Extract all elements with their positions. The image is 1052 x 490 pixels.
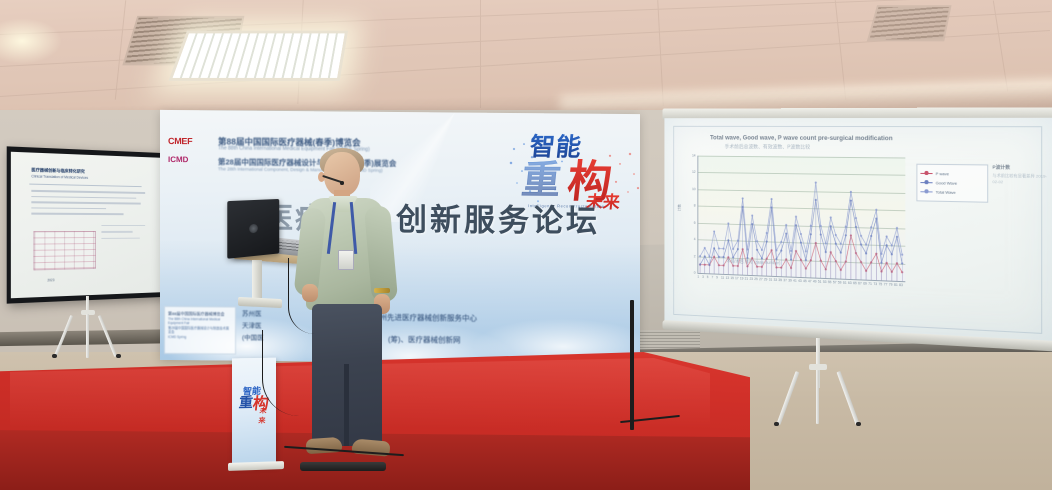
chart-xtick-label: 9 (716, 276, 718, 280)
power-strip (300, 462, 386, 471)
chart-xtick-label: 41 (793, 279, 797, 283)
chart-xtick-label: 21 (745, 277, 748, 281)
left-slide-table (33, 231, 95, 270)
right-screen-surface: Total wave, Good wave, P wave count pre-… (664, 118, 1052, 343)
legend-label-2: Total Wave (936, 189, 956, 194)
chart-xtick-label: 37 (783, 278, 787, 282)
right-projection-screen: Total wave, Good wave, P wave count pre-… (663, 107, 1052, 372)
chart-xtick-label: 33 (774, 278, 778, 282)
chart-xtick-label: 61 (843, 281, 847, 285)
sponsor-card-title-en: The 88th China International Medical Equ… (165, 317, 235, 326)
chart-xtick-label: 15 (730, 276, 733, 280)
chart-xtick-label: 79 (889, 283, 893, 287)
sponsor-card-title: 第88届中国国际医疗器械博览会 (165, 307, 235, 318)
chart-legend: P wave Good Wave Total Wave (916, 164, 988, 203)
annotation-title: P波计数 (992, 164, 1051, 171)
chart-xtick-label: 59 (838, 281, 842, 285)
chart-title: Total wave, Good wave, P wave count pre-… (710, 135, 893, 143)
sponsor-card-sub-en: ICMD Spring (165, 335, 235, 340)
chart-xtick-label: 53 (823, 280, 827, 284)
chart-xtick-label: 13 (726, 276, 729, 280)
ceiling-light-panel (168, 31, 348, 81)
forum-title: 创新服务论坛 (396, 194, 600, 241)
chart-xtick-label: 39 (788, 278, 792, 282)
name-badge (338, 250, 354, 270)
slide-annotation: P波计数 与术前比较有显著差异 2019-02-02 (992, 164, 1051, 186)
chart-ytick-label: 4 (687, 237, 696, 241)
cmef-logo-block: CMEF ICMD (168, 136, 214, 164)
lectern-post (252, 260, 262, 302)
chart-xtick-label: 47 (808, 279, 812, 283)
sponsor-col-item-0: 苏州医 (242, 309, 262, 321)
left-slide-sidenotes (101, 225, 145, 244)
cable-right-vertical (630, 300, 634, 430)
chart-xtick-label: 73 (873, 282, 877, 286)
chart-xtick-label: 45 (803, 279, 807, 283)
chart-xtick-label: 51 (818, 280, 822, 284)
left-slide-subtitle: Clinical Translation of Medical Devices (31, 174, 88, 180)
right-screen-tripod (760, 352, 880, 428)
annotation-body: 与术前比较有显著差异 2019-02-02 (992, 173, 1051, 186)
chart-ytick-label: 2 (687, 254, 696, 258)
sponsor-card: 第88届中国国际医疗器械博览会 The 88th China Internati… (164, 306, 236, 355)
rollup-text-weilai: 未来 (258, 406, 272, 426)
left-slide-rule (29, 184, 141, 188)
chart-xtick-label: 69 (863, 282, 867, 286)
chart-ytick-label: 12 (687, 170, 696, 174)
chart-xtick-label: 65 (853, 281, 857, 285)
chart-xtick-label: 3 (702, 275, 704, 279)
chart-xtick-label: 31 (769, 278, 773, 282)
chart-series-layer (698, 156, 905, 158)
speaker-person (300, 152, 420, 462)
chart-ytick-label: 6 (687, 220, 696, 224)
legend-swatch-1 (920, 182, 932, 184)
chart-xtick-label: 49 (813, 279, 817, 283)
chart-xtick-label: 27 (759, 277, 763, 281)
legend-item-2: Total Wave (920, 187, 984, 197)
chart-xtick-label: 35 (778, 278, 782, 282)
chart-ylabel: 计数 (678, 204, 682, 211)
chart-subtitle: 手术前后总波数、有效波数、P波数比较 (725, 143, 811, 150)
speaker-left-shoe (306, 437, 343, 454)
chart-ytick-label: 0 (687, 271, 696, 275)
laptop-lid (227, 199, 279, 259)
chart-xtick-label: 23 (749, 277, 753, 281)
cmef-logo: CMEF (168, 136, 214, 146)
left-screen-tripod (44, 296, 134, 358)
chart-xtick-label: 7 (711, 275, 713, 279)
chart-xtick-label: 5 (707, 275, 709, 279)
cable-from-lectern (288, 258, 315, 334)
air-vent-icon-2 (867, 5, 952, 41)
chart-xtick-label: 75 (879, 282, 883, 286)
chart-xtick-label: 57 (833, 280, 837, 284)
chart-xtick-label: 55 (828, 280, 832, 284)
sponsor-col-item-2: (中国医 (242, 333, 264, 345)
chart-ytick-label: 14 (687, 154, 696, 158)
icmd-logo: ICMD (168, 155, 214, 164)
laptop-logo-icon (249, 224, 258, 234)
trouser-leg-gap (344, 364, 349, 446)
chart-ytick-label: 8 (687, 204, 696, 208)
chart-xtick-label: 63 (848, 281, 852, 285)
legend-label-0: P wave (936, 171, 949, 176)
chart-xtick-label: 83 (899, 283, 903, 287)
chart-xtick-label: 43 (798, 279, 802, 283)
chart-xtick-label: 19 (740, 277, 743, 281)
wristwatch-icon (374, 288, 390, 293)
chart-xtick-label: 25 (754, 277, 758, 281)
sponsor-col-item-1: 天津医 (242, 321, 262, 333)
left-projection-screen: 医疗器械创新与临床转化研究 Clinical Translation of Me… (7, 146, 170, 303)
conference-photo-scene: 医疗器械创新与临床转化研究 Clinical Translation of Me… (0, 0, 1052, 490)
chart-xtick-label: 11 (721, 276, 724, 280)
left-slide-body (31, 190, 145, 219)
left-slide-footer: 2023 (47, 278, 54, 282)
chart-xtick-label: 17 (735, 276, 738, 280)
chart-xtick-label: 71 (868, 282, 872, 286)
left-screen-surface: 医疗器械创新与临床转化研究 Clinical Translation of Me… (11, 152, 166, 299)
chart-xtick-label: 67 (858, 281, 862, 285)
microphone-capsule (340, 181, 344, 185)
legend-swatch-2 (920, 191, 932, 193)
legend-label-1: Good Wave (936, 180, 957, 185)
chart-ytick-label: 10 (687, 187, 696, 191)
presentation-slide: Total wave, Good wave, P wave count pre-… (673, 126, 1042, 334)
chart-xtick-label: 1 (697, 275, 699, 279)
chart-xtick-label: 77 (884, 282, 888, 286)
chart-xtick-label: 29 (764, 277, 768, 281)
chart-xtick-label: 81 (894, 283, 898, 287)
legend-swatch-0 (920, 173, 932, 175)
